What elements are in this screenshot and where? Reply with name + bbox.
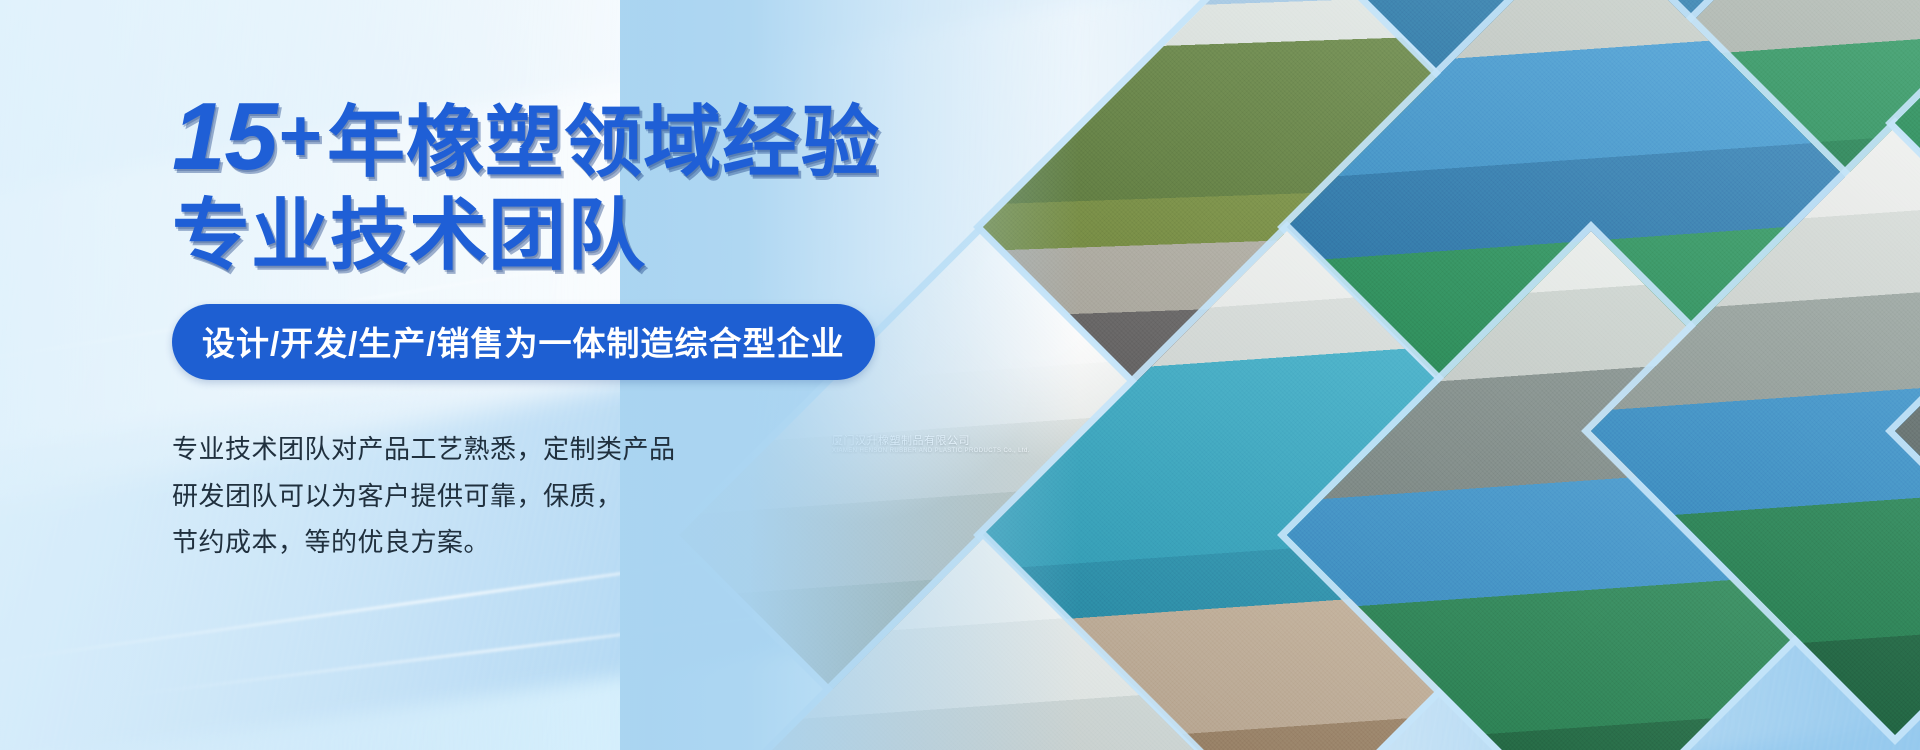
headline-plus-sign: + [279,94,327,177]
headline-line-1-text: 年橡塑领域经验 [327,98,880,186]
capability-badge: 设计/开发/生产/销售为一体制造综合型企业 [172,304,875,380]
hero-description-line-2: 研发团队可以为客户提供可靠，保质， [172,473,932,519]
hero-description-line-1: 专业技术团队对产品工艺熟悉，定制类产品 [172,426,932,472]
headline-line-1: 15+年橡塑领域经验 [172,86,932,188]
hero-copy-block: 15+年橡塑领域经验 专业技术团队 设计/开发/生产/销售为一体制造综合型企业 … [172,86,932,565]
company-hero-banner: 厦门汉升橡塑制品有限公司 XIAMEN HENSON RUBBER AND PL… [0,0,1920,750]
headline-line-2: 专业技术团队 [172,194,932,277]
hero-description-line-3: 节约成本，等的优良方案。 [172,519,932,565]
hero-description: 专业技术团队对产品工艺熟悉，定制类产品 研发团队可以为客户提供可靠，保质， 节约… [172,426,932,565]
headline-years-number: 15 [172,83,279,190]
